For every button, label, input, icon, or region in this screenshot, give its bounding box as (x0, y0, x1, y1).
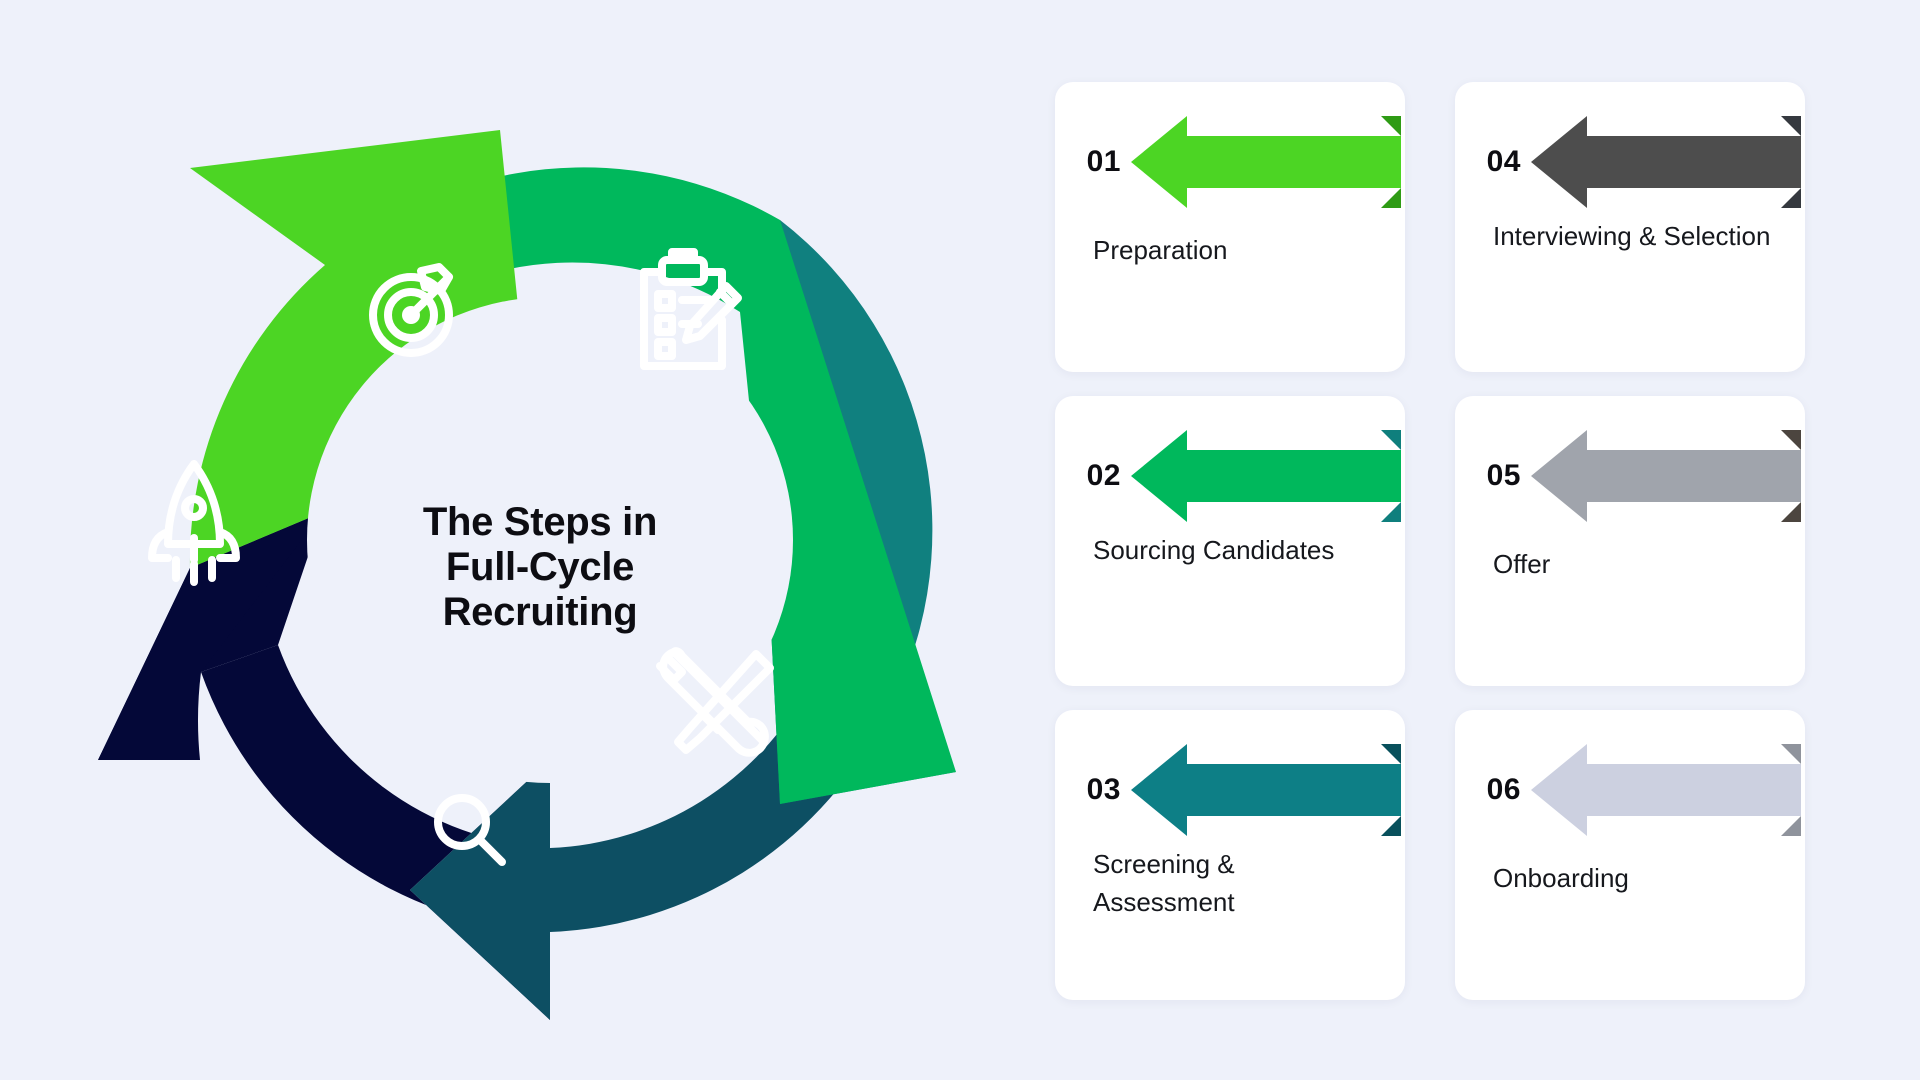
arrow-fold-top (1381, 430, 1401, 450)
step-label-03: Screening & Assessment (1093, 846, 1373, 921)
step-card-05[interactable]: 05 Offer (1455, 396, 1805, 686)
step-label-02: Sourcing Candidates (1093, 532, 1373, 570)
step-card-02[interactable]: 02 Sourcing Candidates (1055, 396, 1405, 686)
arrow-body (1531, 116, 1801, 208)
left-arrow-icon (1131, 744, 1436, 836)
step-number-01: 01 (1055, 145, 1131, 179)
step-arrow-host-05 (1531, 430, 1805, 522)
step-card-04-header: 04 (1455, 116, 1805, 208)
arrow-fold-top (1781, 430, 1801, 450)
arrow-fold-bottom (1781, 502, 1801, 522)
arrow-body (1131, 744, 1401, 836)
arrow-body (1131, 430, 1401, 522)
arrow-body (1531, 744, 1801, 836)
step-card-01-header: 01 (1055, 116, 1405, 208)
left-arrow-icon (1131, 430, 1436, 522)
left-arrow-icon (1131, 116, 1436, 208)
step-card-02-header: 02 (1055, 430, 1405, 522)
page-title-line-3: Recruiting (375, 590, 705, 635)
arrow-fold-bottom (1381, 816, 1401, 836)
step-number-05: 05 (1455, 459, 1531, 493)
step-arrow-host-03 (1131, 744, 1405, 836)
left-arrow-icon (1531, 744, 1836, 836)
step-number-06: 06 (1455, 773, 1531, 807)
step-arrow-host-01 (1131, 116, 1405, 208)
infographic-canvas: .ico { fill:none; stroke:#ffffff; stroke… (0, 0, 1920, 1080)
arrow-body (1131, 116, 1401, 208)
step-card-05-header: 05 (1455, 430, 1805, 522)
step-label-05: Offer (1493, 546, 1773, 584)
arrow-fold-top (1381, 116, 1401, 136)
page-title: The Steps in Full-Cycle Recruiting (375, 500, 705, 634)
steps-card-grid: 01 Preparation 04 (1055, 82, 1855, 1012)
arrow-fold-bottom (1781, 188, 1801, 208)
arrow-fold-bottom (1781, 816, 1801, 836)
step-card-06[interactable]: 06 Onboarding (1455, 710, 1805, 1000)
arrow-fold-top (1781, 744, 1801, 764)
arrow-body (1531, 430, 1801, 522)
step-number-02: 02 (1055, 459, 1131, 493)
step-arrow-host-06 (1531, 744, 1805, 836)
arrow-fold-bottom (1381, 502, 1401, 522)
step-card-03[interactable]: 03 Screening & Assessment (1055, 710, 1405, 1000)
step-label-04: Interviewing & Selection (1493, 218, 1773, 256)
page-title-line-1: The Steps in (375, 500, 705, 545)
step-arrow-host-04 (1531, 116, 1805, 208)
left-arrow-icon (1531, 116, 1836, 208)
step-number-03: 03 (1055, 773, 1131, 807)
page-title-line-2: Full-Cycle (375, 545, 705, 590)
step-number-04: 04 (1455, 145, 1531, 179)
step-card-06-header: 06 (1455, 744, 1805, 836)
step-label-06: Onboarding (1493, 860, 1773, 898)
step-card-01[interactable]: 01 Preparation (1055, 82, 1405, 372)
step-arrow-host-02 (1131, 430, 1405, 522)
arrow-fold-bottom (1381, 188, 1401, 208)
cycle-diagram: .ico { fill:none; stroke:#ffffff; stroke… (80, 60, 1020, 1020)
step-card-03-header: 03 (1055, 744, 1405, 836)
arrow-fold-top (1781, 116, 1801, 136)
arrow-fold-top (1381, 744, 1401, 764)
step-label-01: Preparation (1093, 232, 1373, 270)
left-arrow-icon (1531, 430, 1836, 522)
step-card-04[interactable]: 04 Interviewing & Selection (1455, 82, 1805, 372)
